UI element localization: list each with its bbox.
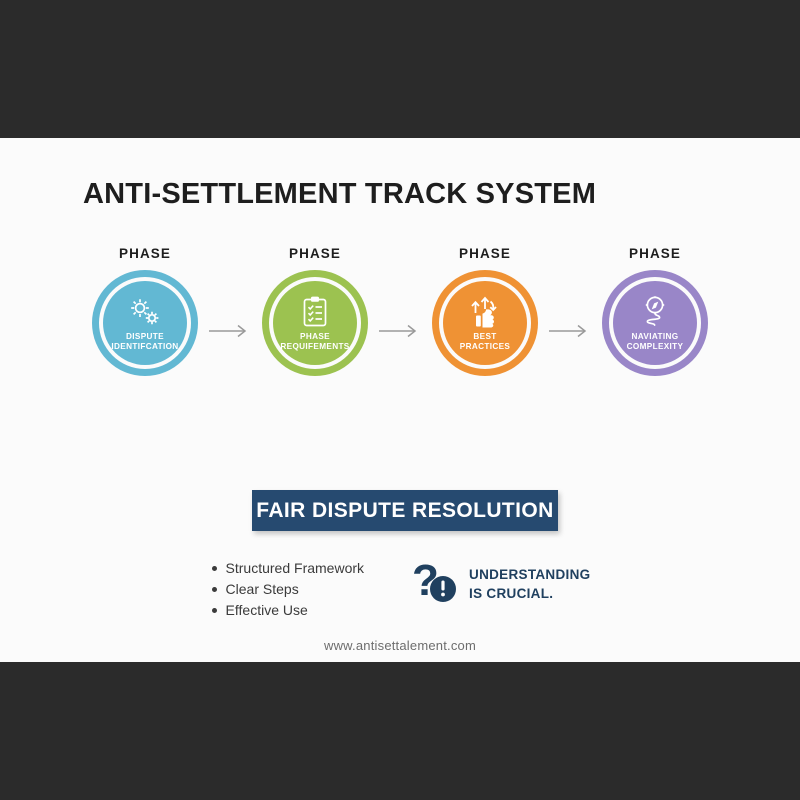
phase-caption-line-1: NAVIATING	[632, 332, 679, 341]
phase-disc: BEST PRACTICES	[443, 281, 527, 365]
phase-step-1[interactable]: PHASE DISPUTE IDENTIFCATION	[86, 246, 204, 376]
thumbs-up-arrows-icon	[469, 294, 501, 328]
clipboard-checklist-icon	[301, 294, 329, 328]
callout-text: UNDERSTANDING IS CRUCIAL.	[469, 566, 590, 602]
phase-disc: DISPUTE IDENTIFCATION	[103, 281, 187, 365]
arrow-right-icon	[548, 324, 592, 338]
banner: FAIR DISPUTE RESOLUTION	[252, 490, 558, 531]
phase-disc: NAVIATING COMPLEXITY	[613, 281, 697, 365]
phase-flow: PHASE DISPUTE IDENTIFCATION	[0, 246, 800, 396]
phase-ring: BEST PRACTICES	[432, 270, 538, 376]
list-item: Structured Framework	[210, 558, 364, 579]
phase-caption-line-2: PRACTICES	[460, 342, 510, 351]
phase-caption: DISPUTE IDENTIFCATION	[111, 332, 178, 352]
arrow-right-icon	[378, 324, 422, 338]
phase-kicker: PHASE	[119, 246, 171, 261]
connector-arrow-1	[204, 324, 256, 338]
highlights-list: Structured Framework Clear Steps Effecti…	[210, 556, 364, 621]
phase-caption-line-1: BEST	[473, 332, 496, 341]
question-exclamation-icon: ?	[412, 560, 458, 609]
phase-kicker: PHASE	[459, 246, 511, 261]
arrow-right-icon	[208, 324, 252, 338]
phase-caption: BEST PRACTICES	[460, 332, 510, 352]
banner-label: FAIR DISPUTE RESOLUTION	[256, 499, 553, 523]
phase-step-2[interactable]: PHASE	[256, 246, 374, 376]
page-title: ANTI-SETTLEMENT TRACK SYSTEM	[83, 178, 596, 211]
phase-caption: PHASE REQUIFEMENTS	[280, 332, 349, 352]
phase-caption-line-2: IDENTIFCATION	[111, 342, 178, 351]
phase-kicker: PHASE	[289, 246, 341, 261]
phase-step-3[interactable]: PHASE	[426, 246, 544, 376]
phase-step-4[interactable]: PHASE NAVIATING COMPLEXITY	[596, 246, 714, 376]
list-item: Clear Steps	[210, 579, 364, 600]
connector-arrow-3	[544, 324, 596, 338]
phase-disc: PHASE REQUIFEMENTS	[273, 281, 357, 365]
compass-path-icon	[638, 294, 672, 328]
gears-icon	[127, 294, 163, 328]
phase-caption-line-1: DISPUTE	[126, 332, 164, 341]
phase-caption-line-2: REQUIFEMENTS	[280, 342, 349, 351]
phase-caption: NAVIATING COMPLEXITY	[627, 332, 684, 352]
phase-caption-line-1: PHASE	[300, 332, 330, 341]
summary-section: Structured Framework Clear Steps Effecti…	[0, 556, 800, 621]
phase-ring: DISPUTE IDENTIFCATION	[92, 270, 198, 376]
callout: ? UNDERSTANDING IS CRUCIAL.	[412, 556, 590, 609]
footer-url: www.antisettalement.com	[0, 638, 800, 653]
phase-kicker: PHASE	[629, 246, 681, 261]
list-item: Effective Use	[210, 600, 364, 621]
connector-arrow-2	[374, 324, 426, 338]
phase-caption-line-2: COMPLEXITY	[627, 342, 684, 351]
phase-ring: NAVIATING COMPLEXITY	[602, 270, 708, 376]
infographic-canvas: ANTI-SETTLEMENT TRACK SYSTEM PHASE	[0, 138, 800, 662]
phase-ring: PHASE REQUIFEMENTS	[262, 270, 368, 376]
